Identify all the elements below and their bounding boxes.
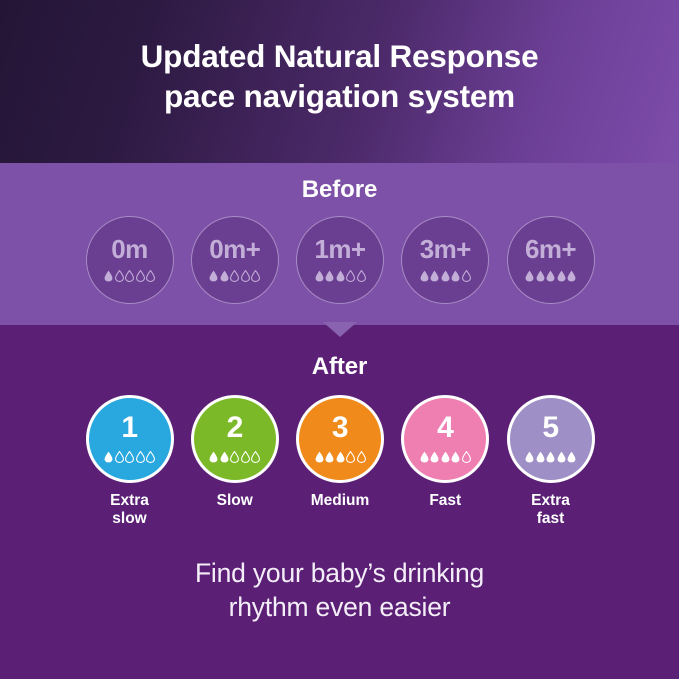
after-circle-flow-3[interactable]: 3 xyxy=(296,395,384,483)
after-item-5[interactable]: 5Extra fast xyxy=(505,395,596,529)
after-item-4[interactable]: 4Fast xyxy=(400,395,491,510)
flow-drops xyxy=(104,450,155,463)
drop-empty-icon xyxy=(346,451,355,463)
page-title: Updated Natural Response pace navigation… xyxy=(0,36,679,117)
header-banner: Updated Natural Response pace navigation… xyxy=(0,0,679,163)
after-item-1[interactable]: 1Extra slow xyxy=(84,395,175,529)
before-circle: 3m+ xyxy=(401,216,489,304)
flow-drops xyxy=(420,450,471,463)
before-item-6mplus: 6m+ xyxy=(505,216,596,304)
drop-filled-icon xyxy=(441,270,450,282)
drop-filled-icon xyxy=(430,270,439,282)
after-section-title: After xyxy=(0,353,679,381)
after-circle-flow-2[interactable]: 2 xyxy=(191,395,279,483)
drop-empty-icon xyxy=(241,270,250,282)
before-age-label: 0m xyxy=(111,236,147,262)
drop-filled-icon xyxy=(430,451,439,463)
before-circle: 1m+ xyxy=(296,216,384,304)
after-circle-flow-1[interactable]: 1 xyxy=(86,395,174,483)
before-circle: 6m+ xyxy=(507,216,595,304)
drop-filled-icon xyxy=(441,451,450,463)
drop-filled-icon xyxy=(325,451,334,463)
drop-filled-icon xyxy=(557,451,566,463)
drop-filled-icon xyxy=(104,451,113,463)
drop-empty-icon xyxy=(115,270,124,282)
after-flow-number: 4 xyxy=(437,413,453,443)
before-section-title: Before xyxy=(0,176,679,204)
drop-filled-icon xyxy=(104,270,113,282)
drop-filled-icon xyxy=(325,270,334,282)
drop-filled-icon xyxy=(567,451,576,463)
drop-empty-icon xyxy=(251,270,260,282)
drop-empty-icon xyxy=(230,451,239,463)
after-pace-label: Slow xyxy=(217,492,253,510)
after-pace-label: Fast xyxy=(429,492,461,510)
after-flow-number: 5 xyxy=(542,413,558,443)
drop-filled-icon xyxy=(336,270,345,282)
before-item-0mplus: 0m+ xyxy=(189,216,280,304)
drop-filled-icon xyxy=(420,270,429,282)
after-pace-label: Extra slow xyxy=(110,492,149,529)
drop-filled-icon xyxy=(220,451,229,463)
drop-empty-icon xyxy=(357,451,366,463)
before-age-label: 1m+ xyxy=(315,236,366,262)
drop-filled-icon xyxy=(546,451,555,463)
drop-filled-icon xyxy=(536,451,545,463)
after-flow-number: 3 xyxy=(332,413,348,443)
after-item-3[interactable]: 3Medium xyxy=(295,395,386,510)
drop-filled-icon xyxy=(567,270,576,282)
drop-empty-icon xyxy=(125,451,134,463)
flow-drops xyxy=(315,269,366,282)
before-age-label: 6m+ xyxy=(525,236,576,262)
drop-empty-icon xyxy=(115,451,124,463)
drop-filled-icon xyxy=(525,451,534,463)
drop-empty-icon xyxy=(357,270,366,282)
drop-empty-icon xyxy=(251,451,260,463)
after-pace-label: Medium xyxy=(311,492,370,510)
drop-filled-icon xyxy=(546,270,555,282)
drop-empty-icon xyxy=(136,270,145,282)
after-row: 1Extra slow2Slow3Medium4Fast5Extra fast xyxy=(84,395,596,529)
before-age-label: 3m+ xyxy=(420,236,471,262)
flow-drops xyxy=(209,269,260,282)
after-item-2[interactable]: 2Slow xyxy=(189,395,280,510)
drop-filled-icon xyxy=(525,270,534,282)
drop-filled-icon xyxy=(315,451,324,463)
flow-drops xyxy=(525,269,576,282)
drop-empty-icon xyxy=(230,270,239,282)
drop-empty-icon xyxy=(146,451,155,463)
drop-filled-icon xyxy=(336,451,345,463)
drop-filled-icon xyxy=(315,270,324,282)
flow-drops xyxy=(525,450,576,463)
before-item-0m: 0m xyxy=(84,216,175,304)
before-row: 0m0m+1m+3m+6m+ xyxy=(84,216,596,304)
after-flow-number: 1 xyxy=(121,413,137,443)
drop-empty-icon xyxy=(136,451,145,463)
triangle-down-icon xyxy=(323,322,357,337)
drop-empty-icon xyxy=(241,451,250,463)
flow-drops xyxy=(209,450,260,463)
infographic-root: Updated Natural Response pace navigation… xyxy=(0,0,679,679)
drop-empty-icon xyxy=(462,270,471,282)
before-item-3mplus: 3m+ xyxy=(400,216,491,304)
after-flow-number: 2 xyxy=(227,413,243,443)
drop-empty-icon xyxy=(125,270,134,282)
before-circle: 0m+ xyxy=(191,216,279,304)
after-pace-label: Extra fast xyxy=(531,492,570,529)
flow-drops xyxy=(420,269,471,282)
drop-filled-icon xyxy=(451,270,460,282)
drop-filled-icon xyxy=(220,270,229,282)
drop-empty-icon xyxy=(146,270,155,282)
drop-filled-icon xyxy=(420,451,429,463)
before-age-label: 0m+ xyxy=(209,236,260,262)
drop-filled-icon xyxy=(557,270,566,282)
drop-empty-icon xyxy=(346,270,355,282)
before-circle: 0m xyxy=(86,216,174,304)
drop-filled-icon xyxy=(209,270,218,282)
drop-filled-icon xyxy=(536,270,545,282)
before-item-1mplus: 1m+ xyxy=(295,216,386,304)
footer-tagline: Find your baby’s drinking rhythm even ea… xyxy=(0,556,679,625)
drop-filled-icon xyxy=(209,451,218,463)
drop-empty-icon xyxy=(462,451,471,463)
after-circle-flow-5[interactable]: 5 xyxy=(507,395,595,483)
after-circle-flow-4[interactable]: 4 xyxy=(401,395,489,483)
flow-drops xyxy=(315,450,366,463)
flow-drops xyxy=(104,269,155,282)
drop-filled-icon xyxy=(451,451,460,463)
